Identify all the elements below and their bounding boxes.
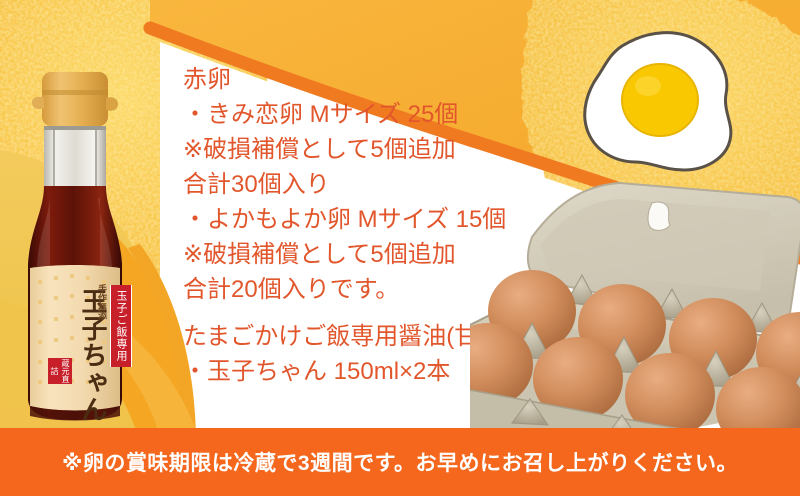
bottle-label-small: 手作無添 [96,284,109,320]
expiry-notice-text: ※卵の賞味期限は冷蔵で3週間です。お早めにお召し上がりください。 [0,428,800,496]
description-line-1: ・きみ恋卵 Mサイズ 25個 [183,97,523,132]
description-line-2: ※破損補償として5個追加 [183,132,523,167]
promo-banner-image: 玉子ちゃん 手作無添 玉子ご飯専用 蔵元直詰 赤卵 ・きみ恋卵 Mサイズ 25個… [0,0,800,496]
egg-carton-image [470,175,800,470]
description-heading: 赤卵 [183,62,523,97]
bottle-label-red-band: 玉子ご飯専用 [110,285,132,367]
fried-egg-icon [578,28,748,185]
bottle-label-seal: 蔵元直詰 [48,358,72,384]
